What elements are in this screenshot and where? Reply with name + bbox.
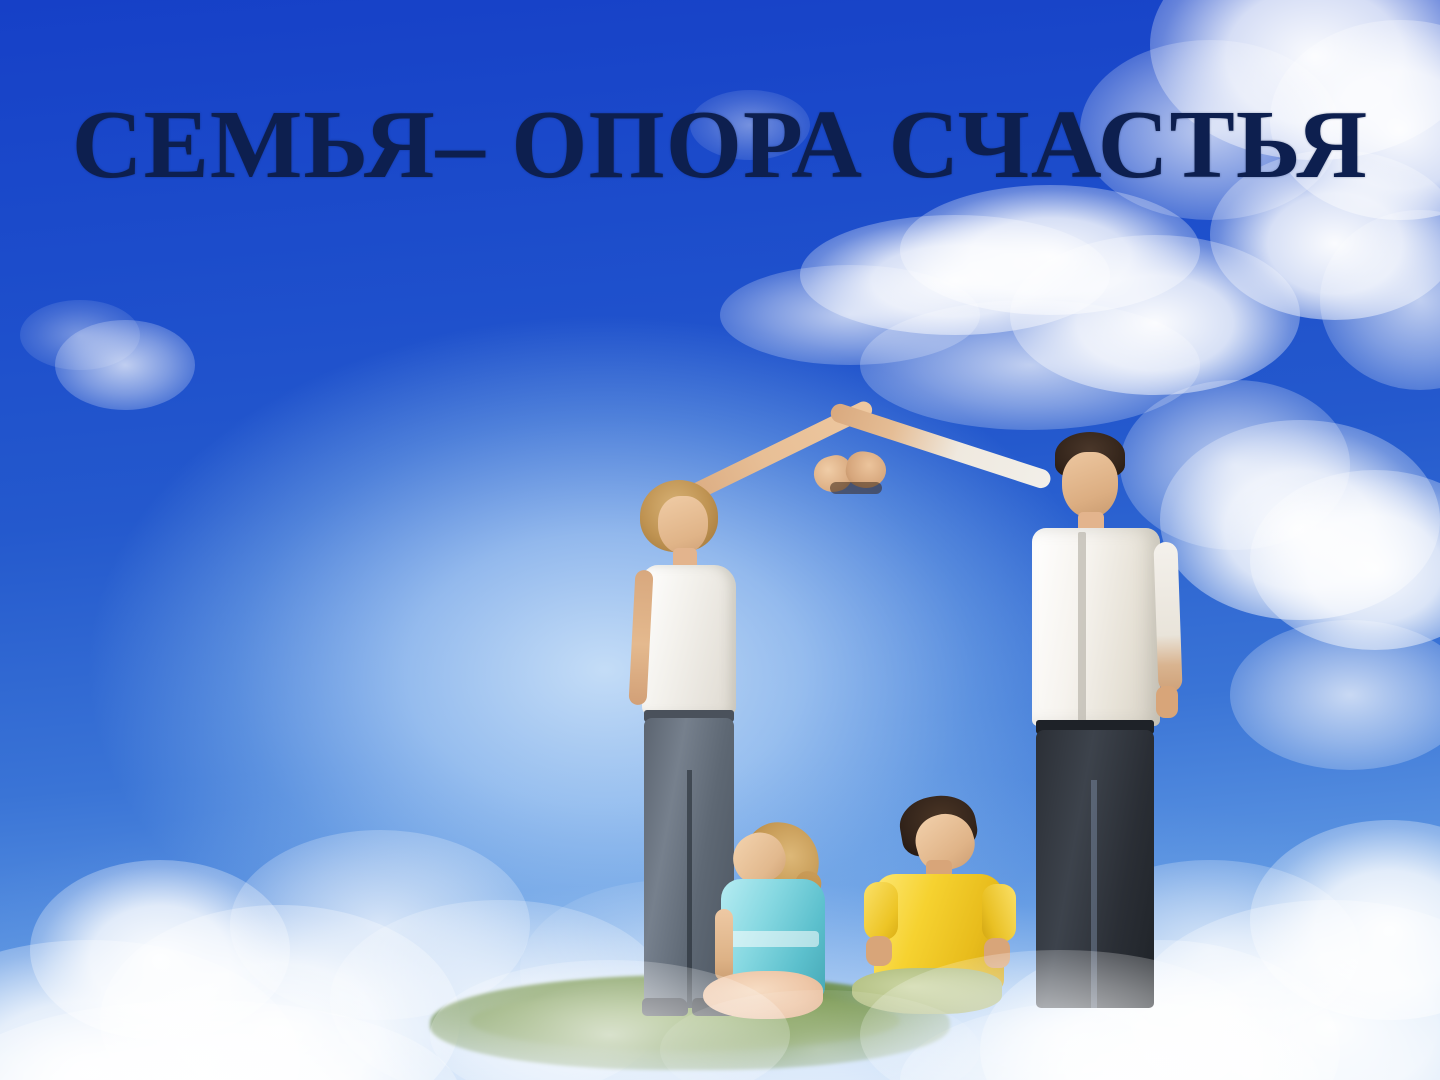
mother-shoe-left — [642, 998, 688, 1016]
boy-sleeve-right — [982, 884, 1016, 942]
father-shirt — [1032, 528, 1160, 726]
father-right-hand — [1156, 686, 1178, 718]
father-right-arm — [1153, 542, 1182, 693]
mother-top — [642, 565, 736, 715]
boy-hand-right — [984, 938, 1010, 968]
boy-sleeve-left — [864, 882, 898, 940]
girl-arm — [715, 909, 733, 981]
figure-boy — [860, 790, 1040, 1020]
father-face — [1062, 452, 1118, 518]
father-jeans-seam — [1091, 780, 1097, 1008]
boy-shorts — [852, 968, 1002, 1014]
wrist-shadow — [830, 482, 882, 494]
joined-hands-roof-apex — [808, 446, 896, 498]
girl-legs — [703, 971, 823, 1019]
girl-dress-band — [725, 931, 819, 947]
father-shirt-placket — [1078, 532, 1086, 722]
family-photo-collage — [0, 0, 1440, 1080]
mother-face — [658, 496, 708, 554]
boy-hand-left — [866, 936, 892, 966]
mother-jeans-seam — [687, 770, 692, 1008]
slide-canvas: СЕМЬЯ– ОПОРА СЧАСТЬЯ — [0, 0, 1440, 1080]
